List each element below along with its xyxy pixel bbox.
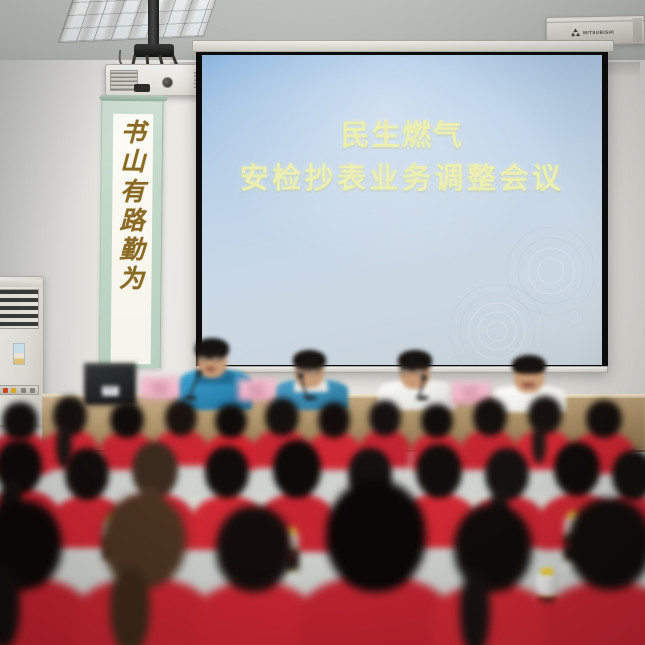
- placard-3-line1: 民生燃气: [461, 387, 480, 393]
- audience-member: [544, 498, 645, 645]
- ac-louvers: [0, 289, 39, 329]
- projector-mount-pole: [148, 0, 159, 48]
- ac-energy-label: [13, 343, 25, 365]
- projector-adjust-knob: [134, 84, 150, 92]
- monitor-sticker: [102, 386, 119, 396]
- placard-1-line2: 李先生: [153, 389, 167, 395]
- slide-title-line1: 民生燃气: [202, 117, 602, 155]
- projection-screen: 民生燃气 安检抄表业务调整会议: [202, 55, 602, 365]
- audience-member: [196, 506, 314, 645]
- mitsubishi-logo-group: MITSUBISHI: [571, 28, 614, 37]
- audience-member: [300, 480, 450, 645]
- ac-control-panel[interactable]: [0, 385, 39, 395]
- slide-title-line2: 安检抄表业务调整会议: [202, 160, 602, 198]
- ac-brand-label: MITSUBISHI: [583, 29, 614, 35]
- conference-room-photo: MITSUBISHI: [0, 0, 645, 645]
- scroll-rod: [99, 95, 167, 102]
- slide-title-block: 民生燃气 安检抄表业务调整会议: [202, 55, 602, 197]
- slide-ripple-decoration: [379, 213, 594, 363]
- audience-member: [76, 494, 212, 645]
- projection-screen-frame: 民生燃气 安检抄表业务调整会议: [196, 50, 608, 370]
- audience-member: [432, 504, 552, 645]
- projector-lens-icon: [162, 77, 173, 88]
- name-placard-1: 民生燃气 李先生: [141, 377, 179, 399]
- scroll-characters: 书 山 有 路 勤 为: [111, 118, 153, 294]
- mitsubishi-three-diamond-icon: [571, 28, 580, 36]
- placard-2-line2: 陈经理: [250, 391, 264, 397]
- fluorescent-ceiling-light: [57, 0, 218, 43]
- placard-1-line1: 民生燃气: [150, 382, 169, 388]
- placard-2-line1: 民生燃气: [247, 384, 266, 390]
- calligraphy-scroll: 书 山 有 路 勤 为: [99, 100, 164, 369]
- microphone-base-3: [416, 396, 429, 400]
